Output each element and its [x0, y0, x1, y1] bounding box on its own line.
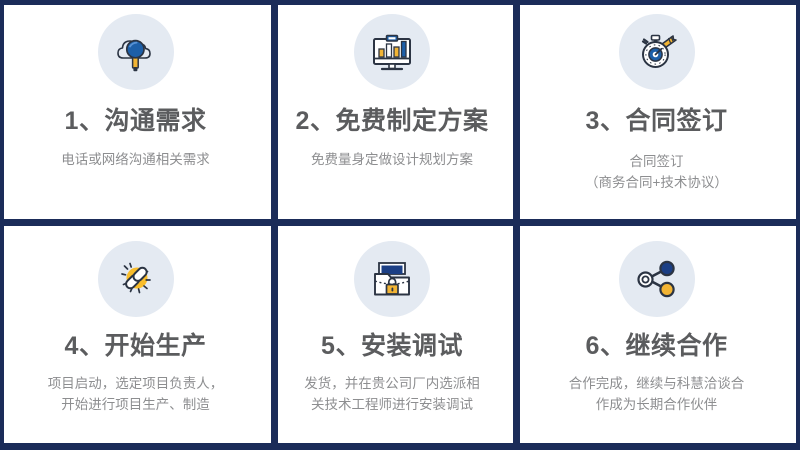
frame-bottom-edge: [0, 443, 800, 450]
chain-link-icon: [98, 241, 174, 317]
step-card-5[interactable]: 5、安装调试 发货，并在贵公司厂内选派相 关技术工程师进行安装调试: [271, 219, 513, 450]
step-card-6[interactable]: 6、继续合作 合作完成，继续与科慧洽谈合 作成为长期合作伙伴: [513, 219, 800, 450]
step-title: 6、继续合作: [586, 334, 728, 359]
step-description: 电话或网络沟通相关需求: [61, 150, 210, 171]
step-card-2[interactable]: 2、免费制定方案 免费量身定做设计规划方案: [271, 0, 513, 219]
monitor-bar-chart-icon: [354, 14, 430, 90]
step-card-1[interactable]: 1、沟通需求 电话或网络沟通相关需求: [0, 0, 271, 219]
step-description: 合同签订 （商务合同+技术协议）: [585, 152, 728, 194]
share-network-icon: [619, 241, 695, 317]
frame-right-edge: [796, 0, 800, 450]
step-description: 发货，并在贵公司厂内选派相 关技术工程师进行安装调试: [304, 374, 480, 416]
step-description: 合作完成，继续与科慧洽谈合 作成为长期合作伙伴: [569, 374, 745, 416]
step-title: 3、合同签订: [586, 109, 728, 134]
frame-top-edge: [0, 0, 800, 5]
step-card-3[interactable]: 3、合同签订 合同签订 （商务合同+技术协议）: [513, 0, 800, 219]
step-description: 免费量身定做设计规划方案: [311, 150, 473, 171]
magnifier-cloud-icon: [98, 14, 174, 90]
frame-left-edge: [0, 0, 4, 450]
stopwatch-dart-icon: [619, 14, 695, 90]
step-title: 1、沟通需求: [65, 109, 207, 134]
step-card-4[interactable]: 4、开始生产 项目启动，选定项目负责人， 开始进行项目生产、制造: [0, 219, 271, 450]
step-title: 5、安装调试: [321, 334, 463, 359]
process-steps-infographic: 1、沟通需求 电话或网络沟通相关需求 2、免费制定方案: [0, 0, 800, 450]
horizontal-divider: [0, 219, 800, 226]
step-title: 2、免费制定方案: [296, 109, 489, 134]
step-description: 项目启动，选定项目负责人， 开始进行项目生产、制造: [48, 374, 224, 416]
folder-lock-icon: [354, 241, 430, 317]
step-title: 4、开始生产: [65, 334, 207, 359]
